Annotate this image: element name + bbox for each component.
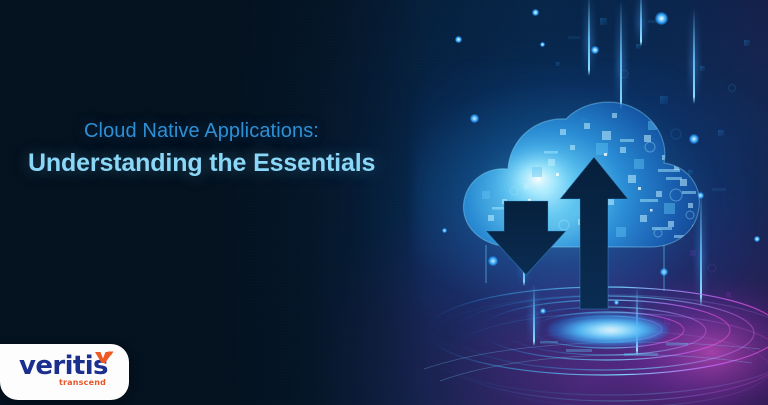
- light-streak: [640, 0, 642, 46]
- glow-dot: [455, 36, 462, 43]
- page-title: Cloud Native Applications: Understanding…: [28, 118, 448, 178]
- title-line-2: Understanding the Essentials: [28, 148, 448, 179]
- logo-inner: veritis transcend: [19, 353, 119, 393]
- glow-dot: [754, 236, 760, 242]
- glow-dot: [655, 12, 668, 25]
- logo-tagline: transcend: [59, 379, 106, 387]
- cloud-native-banner: Cloud Native Applications: Understanding…: [0, 0, 768, 405]
- glow-dot: [540, 42, 545, 47]
- title-line-1: Cloud Native Applications:: [84, 118, 448, 145]
- glow-dot: [591, 46, 599, 54]
- veritis-logo-card[interactable]: veritis transcend: [0, 344, 129, 400]
- glow-dot: [532, 9, 539, 16]
- digital-cloud-icon: [452, 95, 712, 310]
- veritis-chevron-mark-icon: [94, 351, 114, 364]
